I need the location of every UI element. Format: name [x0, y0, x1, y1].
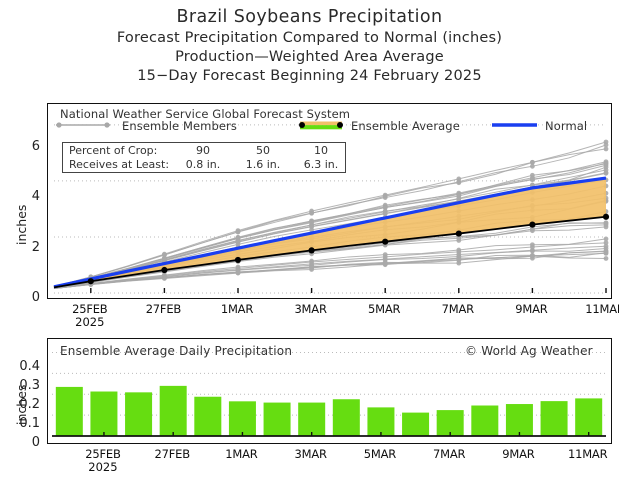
- bar-28FEB: [194, 397, 221, 436]
- crop-row1-label: Percent of Crop:: [69, 144, 157, 157]
- crop-percent-90: 90: [181, 144, 225, 157]
- subtitle-2: Production—Weighted Area Average: [0, 48, 619, 67]
- bar-24FEB: [56, 387, 83, 436]
- bar-ytick-0.3: 0.3: [12, 378, 40, 393]
- crop-row2-label: Receives at Least:: [69, 158, 169, 171]
- crop-percent-50: 50: [241, 144, 285, 157]
- normal-legend-icon: [489, 118, 541, 132]
- legend-ensemble-average-label: Ensemble Average: [351, 119, 460, 133]
- bar-ytick-0.1: 0.1: [12, 416, 40, 431]
- bar-xtick-3MAR: 3MAR: [281, 447, 341, 461]
- main-ytick-6: 6: [12, 139, 40, 154]
- crop-amount-50: 1.6 in.: [241, 158, 285, 171]
- bar-26FEB: [125, 392, 152, 436]
- main-xtick-3MAR: 3MAR: [281, 302, 341, 316]
- ensemble-average-legend-icon: [295, 118, 347, 132]
- bar-xtick-1MAR: 1MAR: [211, 447, 271, 461]
- ensemble-members-legend-icon: [52, 118, 118, 132]
- bar-2MAR: [264, 403, 291, 436]
- legend-normal-label: Normal: [545, 119, 587, 133]
- main-xtick-7MAR: 7MAR: [428, 302, 488, 316]
- crop-amount-90: 0.8 in.: [181, 158, 225, 171]
- bar-xtick-7MAR: 7MAR: [419, 447, 479, 461]
- bar-xtick-5MAR: 5MAR: [350, 447, 410, 461]
- title-block: Brazil Soybeans Precipitation Forecast P…: [0, 0, 619, 86]
- crop-percent-10: 10: [299, 144, 343, 157]
- bar-xtick-27FEB: 27FEB: [142, 447, 202, 461]
- main-xtick-5MAR: 5MAR: [354, 302, 414, 316]
- bar-11MAR: [575, 398, 602, 436]
- main-xtick-25FEB: 25FEB: [60, 302, 120, 316]
- main-ytick-4: 4: [12, 189, 40, 204]
- bar-panel-title: Ensemble Average Daily Precipitation: [60, 344, 292, 358]
- bar-25FEB: [90, 392, 117, 436]
- percent-of-crop-box: Percent of Crop: 90 50 10 Receives at Le…: [62, 142, 346, 173]
- chart-page: Brazil Soybeans Precipitation Forecast P…: [0, 0, 619, 480]
- subtitle-3: 15−Day Forecast Beginning 24 February 20…: [0, 67, 619, 86]
- bar-10MAR: [541, 401, 568, 436]
- main-ytick-2: 2: [12, 240, 40, 255]
- bar-9MAR: [506, 404, 533, 436]
- main-xtick-9MAR: 9MAR: [501, 302, 561, 316]
- bar-xtick-9MAR: 9MAR: [488, 447, 548, 461]
- bar-ytick-0: 0: [12, 435, 40, 450]
- main-xtick-27FEB: 27FEB: [133, 302, 193, 316]
- bar-27FEB: [160, 386, 187, 436]
- bar-xtick-25FEB: 25FEB: [73, 447, 133, 461]
- bar-6MAR: [402, 413, 429, 436]
- bar-ytick-0.4: 0.4: [12, 359, 40, 374]
- main-xtick-year: 2025: [60, 315, 120, 329]
- main-ytick-0: 0: [12, 290, 40, 305]
- bar-xtick-11MAR: 11MAR: [558, 447, 618, 461]
- bar-1MAR: [229, 401, 256, 436]
- subtitle-1: Forecast Precipitation Compared to Norma…: [0, 29, 619, 48]
- main-xtick-11MAR: 11MAR: [575, 302, 619, 316]
- bar-3MAR: [298, 403, 325, 436]
- bar-4MAR: [333, 399, 360, 436]
- legend-ensemble-members-label: Ensemble Members: [122, 119, 237, 133]
- main-y-axis-label: inches: [14, 205, 29, 245]
- bar-ytick-0.2: 0.2: [12, 397, 40, 412]
- main-xtick-1MAR: 1MAR: [207, 302, 267, 316]
- page-title: Brazil Soybeans Precipitation: [0, 0, 619, 29]
- bar-5MAR: [367, 407, 394, 436]
- bar-8MAR: [471, 406, 498, 437]
- crop-amount-10: 6.3 in.: [299, 158, 343, 171]
- bar-xtick-year: 2025: [73, 460, 133, 474]
- copyright-notice: © World Ag Weather: [465, 344, 593, 358]
